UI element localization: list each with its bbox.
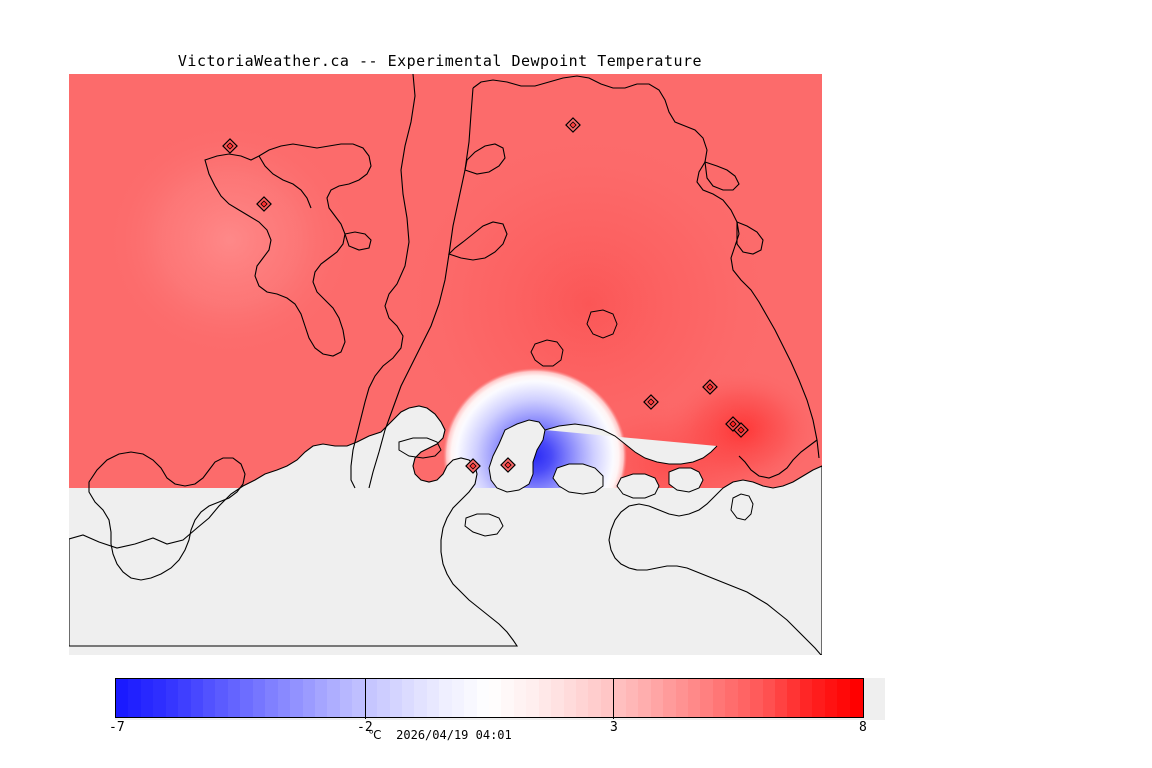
colorbar-segment	[402, 679, 415, 717]
colorbar-segment	[327, 679, 340, 717]
colorbar-segment	[539, 679, 552, 717]
colorbar-segment	[750, 679, 763, 717]
map-canvas	[69, 74, 822, 655]
colorbar-segment	[352, 679, 365, 717]
colorbar-segment	[390, 679, 403, 717]
colorbar-segment	[153, 679, 166, 717]
colorbar-segment	[837, 679, 850, 717]
colorbar-segment	[775, 679, 788, 717]
colorbar-segment	[228, 679, 241, 717]
colorbar-segment	[787, 679, 800, 717]
colorbar[interactable]	[115, 678, 864, 718]
colorbar-strip[interactable]	[115, 678, 864, 718]
colorbar-segment	[601, 679, 614, 717]
map-panel[interactable]	[69, 74, 822, 655]
colorbar-segment	[414, 679, 427, 717]
colorbar-segment	[800, 679, 813, 717]
colorbar-tick	[613, 679, 614, 719]
colorbar-segment	[240, 679, 253, 717]
colorbar-segment	[427, 679, 440, 717]
colorbar-segment	[141, 679, 154, 717]
colorbar-segment	[688, 679, 701, 717]
colorbar-segment	[651, 679, 664, 717]
colorbar-segment	[290, 679, 303, 717]
weather-map-page: VictoriaWeather.ca -- Experimental Dewpo…	[0, 0, 1152, 768]
colorbar-segment	[576, 679, 589, 717]
colorbar-segment	[825, 679, 838, 717]
colorbar-segment	[303, 679, 316, 717]
colorbar-segment	[763, 679, 776, 717]
colorbar-segment	[514, 679, 527, 717]
colorbar-segment	[713, 679, 726, 717]
colorbar-segment	[526, 679, 539, 717]
colorbar-segment	[452, 679, 465, 717]
colorbar-segment	[253, 679, 266, 717]
colorbar-segment	[725, 679, 738, 717]
colorbar-segment	[128, 679, 141, 717]
colorbar-segment	[365, 679, 378, 717]
colorbar-segment	[116, 679, 129, 717]
colorbar-units-timestamp: ℃ 2026/04/19 04:01	[0, 728, 880, 742]
colorbar-segment	[377, 679, 390, 717]
colorbar-segment	[265, 679, 278, 717]
colorbar-segment	[191, 679, 204, 717]
colorbar-segment	[477, 679, 490, 717]
colorbar-segment	[738, 679, 751, 717]
colorbar-segment	[278, 679, 291, 717]
colorbar-tick	[365, 679, 366, 719]
colorbar-segment	[203, 679, 216, 717]
colorbar-segment	[564, 679, 577, 717]
colorbar-segment	[501, 679, 514, 717]
colorbar-segment	[850, 679, 863, 717]
colorbar-segment	[464, 679, 477, 717]
colorbar-segment	[489, 679, 502, 717]
colorbar-segment	[700, 679, 713, 717]
colorbar-segment	[626, 679, 639, 717]
colorbar-segment	[215, 679, 228, 717]
colorbar-segment	[340, 679, 353, 717]
colorbar-segment	[439, 679, 452, 717]
colorbar-segment	[676, 679, 689, 717]
colorbar-segment	[551, 679, 564, 717]
map-field-svg	[69, 74, 822, 655]
colorbar-segment	[166, 679, 179, 717]
colorbar-segment	[663, 679, 676, 717]
colorbar-segment	[613, 679, 626, 717]
colorbar-segment	[812, 679, 825, 717]
colorbar-segment	[638, 679, 651, 717]
colorbar-segment	[178, 679, 191, 717]
colorbar-segment	[315, 679, 328, 717]
colorbar-segment	[588, 679, 601, 717]
page-title: VictoriaWeather.ca -- Experimental Dewpo…	[0, 52, 880, 70]
